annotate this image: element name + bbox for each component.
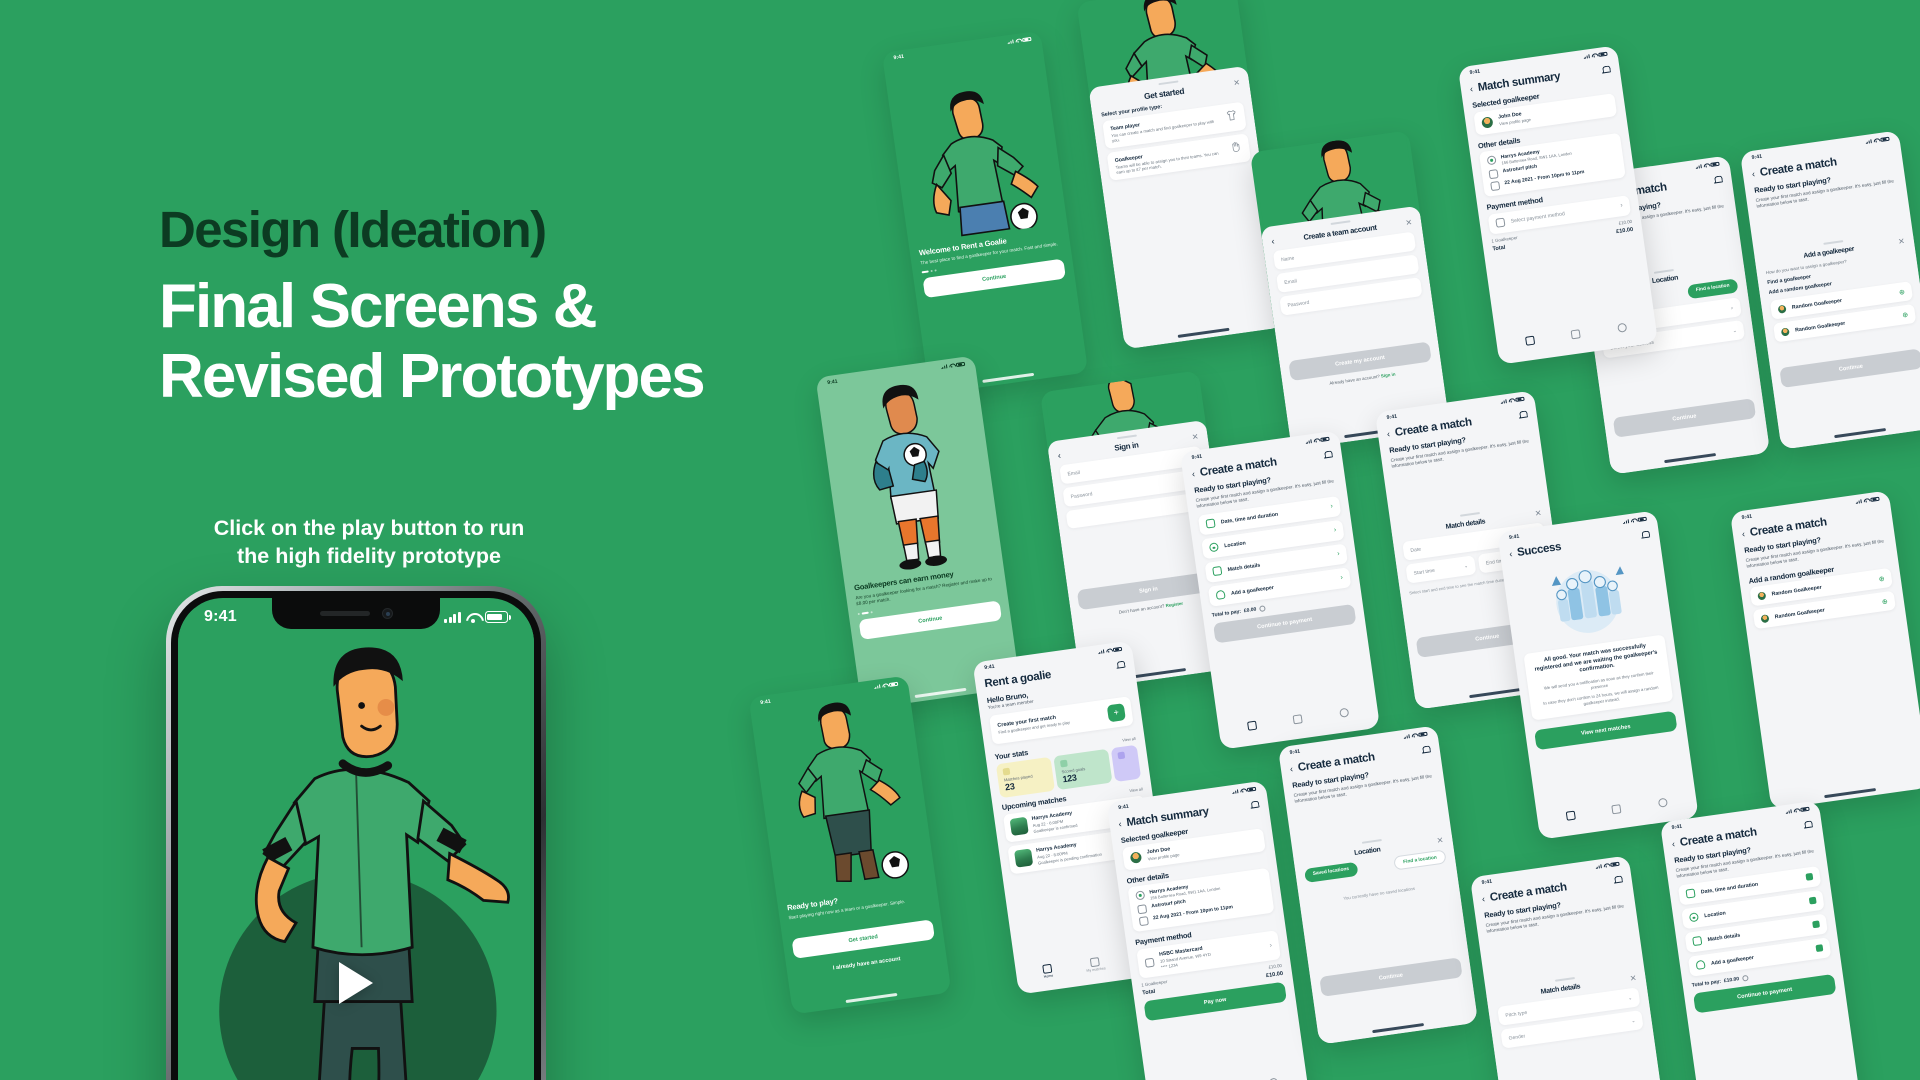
signal-icon [1785, 809, 1792, 814]
avatar [1130, 851, 1142, 863]
step-label: Add a goalkeeper [1711, 947, 1811, 967]
wifi-icon [1591, 53, 1597, 58]
tab-home[interactable] [1525, 335, 1535, 347]
close-icon[interactable]: ✕ [1405, 218, 1413, 227]
signal-icon [1305, 439, 1312, 444]
battery-icon [1418, 731, 1428, 737]
sheet-grabber[interactable] [1460, 512, 1480, 517]
screen-welcome[interactable]: 9:41 Welcome to Rent a Goalie The best p… [882, 31, 1088, 395]
phone-screen[interactable]: 9:41 [178, 598, 534, 1080]
tab-label: My matches [1086, 967, 1106, 974]
stat-card[interactable]: Saves [1111, 744, 1141, 781]
avatar [1781, 327, 1790, 336]
wifi-icon [466, 612, 480, 623]
chevron-right-icon: › [1269, 942, 1272, 949]
status-clock: 9:41 [827, 379, 838, 386]
status-icons [1695, 161, 1720, 169]
upcoming-view-all[interactable]: View all [1129, 786, 1143, 793]
signal-icon [1695, 164, 1702, 169]
status-icons [1007, 37, 1032, 45]
match-details-sheet: Match details ✕ Pitch type ⌄ Gender ⌄ Co… [1485, 962, 1670, 1080]
status-icons [1500, 396, 1525, 404]
status-icons [874, 681, 899, 689]
calendar-icon [1490, 181, 1500, 191]
bottom-tab-bar [1147, 1067, 1309, 1080]
pitch-icon [1137, 904, 1147, 914]
battery-icon [1610, 861, 1620, 867]
prompt-text: Don't have an account? [1118, 603, 1164, 614]
battery-icon [1113, 647, 1123, 653]
tab-home[interactable]: Home [1042, 963, 1054, 979]
signal-icon [1595, 864, 1602, 869]
folder-icon [1692, 936, 1702, 946]
tab-find-location[interactable]: Find a location [1687, 278, 1738, 299]
sheet-grabber[interactable] [1330, 220, 1350, 225]
field-label: Email [1284, 278, 1297, 286]
matches-icon [1571, 329, 1581, 339]
status-clock: 9:41 [893, 54, 904, 61]
bell-icon[interactable] [1803, 820, 1813, 830]
status-icons [1403, 731, 1428, 739]
info-icon[interactable] [1742, 975, 1749, 982]
back-icon[interactable]: ‹ [1191, 469, 1195, 478]
continue-button[interactable]: Continue [1319, 957, 1462, 997]
goalkeeper-name: Random Goalkeeper [1771, 577, 1873, 597]
field-label: Name [1281, 255, 1295, 263]
avatar [1760, 614, 1769, 623]
screen-match-summary[interactable]: 9:41 ‹ Match summary Selected goalkeeper… [1107, 780, 1310, 1080]
status-icons [1622, 516, 1647, 524]
screen-add-goalkeeper-list[interactable]: 9:41 ‹ Create a match Ready to start pla… [1730, 490, 1920, 809]
step-label: Date, time and duration [1701, 875, 1801, 895]
back-icon[interactable]: ‹ [1671, 839, 1675, 848]
ball-icon [1060, 759, 1068, 767]
screen-create-match[interactable]: 9:41 ‹ Create a match Ready to start pla… [1180, 430, 1380, 749]
tab-my-matches[interactable]: My matches [1085, 956, 1106, 973]
calendar-icon [1139, 916, 1149, 926]
back-icon[interactable]: ‹ [1751, 169, 1755, 178]
add-icon[interactable]: ⊕ [1881, 597, 1888, 606]
wifi-icon [1631, 518, 1637, 523]
back-icon[interactable]: ‹ [1509, 549, 1513, 558]
earn-continue-button[interactable]: Continue [859, 600, 1002, 640]
signal-icon [1500, 399, 1507, 404]
create-match-content: ‹ Create a match Ready to start playing?… [1732, 504, 1905, 631]
page-subtitle: Final Screens & Revised Prototypes [159, 272, 704, 412]
avatar [1757, 591, 1766, 600]
battery-icon [1800, 806, 1810, 812]
total-value: £10.00 [1724, 976, 1740, 984]
bell-icon[interactable] [1323, 450, 1333, 460]
profile-icon [1617, 322, 1627, 332]
folder-icon [1212, 566, 1222, 576]
chevron-down-icon: ⌄ [1464, 563, 1469, 570]
status-icons [1097, 647, 1122, 655]
step-label: Date, time and duration [1221, 505, 1325, 526]
battery-icon [1637, 516, 1647, 522]
wifi-icon [1508, 398, 1514, 403]
bell-icon[interactable] [1250, 800, 1260, 810]
field-label: Start time [1413, 567, 1435, 576]
goalkeeper-name: Random Goalkeeper [1792, 290, 1894, 310]
option-desc: Teams will be able to assign you to thei… [1115, 149, 1225, 174]
field-label: Date [1410, 546, 1421, 553]
wifi-icon [1703, 163, 1709, 168]
sheet-grabber[interactable] [1555, 977, 1575, 982]
chevron-down-icon: ⌄ [1631, 1017, 1636, 1024]
close-icon[interactable]: ✕ [1436, 836, 1444, 845]
screen-create-team-account[interactable]: ‹ Create a team account ✕ Name Email Pas… [1250, 130, 1450, 449]
summary-content: ‹ Match summary Selected goalkeeper John… [1460, 59, 1643, 253]
pitch-icon [1488, 169, 1498, 179]
status-clock: 9:41 [1741, 514, 1752, 521]
close-icon[interactable]: ✕ [1233, 79, 1241, 88]
status-icons [1232, 786, 1257, 794]
register-link[interactable]: Register [1165, 601, 1183, 608]
gloves-icon [1117, 751, 1125, 759]
success-message-card: All good. Your match was successfully re… [1523, 634, 1673, 720]
add-icon[interactable]: ⊕ [1902, 310, 1909, 319]
wifi-icon [1411, 733, 1417, 738]
crowd-illustration [1512, 553, 1663, 644]
home-indicator [982, 373, 1034, 383]
wifi-icon [1863, 498, 1869, 503]
info-icon[interactable] [1259, 605, 1266, 612]
tab-my-matches[interactable] [1571, 329, 1581, 341]
battery-icon [956, 362, 966, 368]
bell-icon[interactable] [1518, 410, 1528, 420]
wifi-icon [1603, 863, 1609, 868]
player-illustration [178, 598, 534, 1080]
step-label: Match details [1227, 552, 1331, 573]
battery-icon [1320, 436, 1330, 442]
status-clock: 9:41 [1289, 749, 1300, 756]
goalkeeper-name: Random Goalkeeper [1795, 313, 1897, 333]
matches-icon [1090, 957, 1100, 967]
battery-icon [1247, 786, 1257, 792]
wifi-icon [1015, 38, 1021, 43]
slide-left-panel: Design (Ideation) Final Screens & Revise… [0, 0, 820, 1080]
home-indicator [915, 688, 967, 698]
total-label: Total to pay: [1691, 978, 1721, 988]
bell-icon[interactable] [1640, 530, 1650, 540]
add-icon[interactable]: ⊕ [1898, 288, 1905, 297]
signal-icon [1622, 519, 1629, 524]
home-indicator [1824, 788, 1876, 798]
total-label: Total [1492, 244, 1506, 252]
welcome-illustration [884, 44, 1067, 245]
battery-icon [1515, 396, 1525, 402]
signal-icon [1855, 499, 1862, 504]
check-icon [1805, 873, 1813, 881]
goalkeeper-name: Random Goalkeeper [1774, 600, 1876, 620]
line-item-label: 1 Goalkeeper [1141, 978, 1168, 987]
status-clock: 9:41 [1118, 804, 1129, 811]
check-icon [1812, 921, 1820, 929]
signal-icon [940, 364, 947, 369]
home-icon [1042, 963, 1052, 973]
close-icon[interactable]: ✕ [1629, 974, 1637, 983]
chevron-right-icon: › [1620, 202, 1623, 209]
line-item-value: £10.00 [1268, 962, 1282, 969]
status-clock: 9:41 [1191, 454, 1202, 461]
battery-icon [1880, 136, 1890, 142]
matches-icon [1293, 714, 1303, 724]
tab-my-matches[interactable] [1293, 714, 1303, 726]
signal-icon [1007, 39, 1014, 44]
profile-icon [1658, 797, 1668, 807]
start-time-field[interactable]: Start time ⌄ [1405, 555, 1476, 583]
tab-home[interactable] [1566, 810, 1576, 822]
status-clock: 9:41 [1386, 414, 1397, 421]
step-label: Add a goalkeeper [1231, 576, 1335, 597]
screen-success[interactable]: 9:41 ‹ Success [1497, 510, 1699, 839]
screen-location-empty[interactable]: 9:41 ‹ Create a match Ready to start pla… [1278, 725, 1478, 1044]
avatar [1778, 304, 1787, 313]
continue-button[interactable]: Continue [1779, 348, 1920, 388]
home-indicator [846, 993, 898, 1003]
create-account-button[interactable]: Create my account [1288, 342, 1431, 382]
bell-icon[interactable] [1613, 875, 1623, 885]
screen-add-random-goalkeeper[interactable]: 9:41 ‹ Create a match Ready to start pla… [1740, 130, 1920, 449]
tab-my-matches[interactable] [1612, 804, 1622, 816]
status-icons [940, 362, 965, 370]
earpiece-speaker [320, 611, 370, 616]
location-sheet: Location ✕ Saved locations Find a locati… [1292, 824, 1478, 1044]
profile-icon [1339, 707, 1349, 717]
signal-icon [1232, 789, 1239, 794]
wifi-icon [949, 363, 955, 368]
matches-icon [1612, 804, 1622, 814]
battery-icon [1710, 161, 1720, 167]
play-button[interactable] [339, 962, 373, 1004]
calendar-icon [1686, 889, 1696, 899]
battery-icon [485, 611, 508, 623]
bell-icon[interactable] [1601, 65, 1611, 75]
front-camera-icon [382, 608, 393, 619]
field-label: Gender [1508, 1033, 1525, 1041]
back-icon[interactable]: ‹ [1057, 451, 1061, 460]
tab-saved-locations[interactable]: Saved locations [1304, 862, 1358, 883]
back-icon[interactable]: ‹ [1271, 237, 1275, 246]
signal-icon [1865, 139, 1872, 144]
back-icon[interactable]: ‹ [1741, 529, 1745, 538]
signal-icon [1097, 649, 1104, 654]
pin-icon [1209, 543, 1219, 553]
empty-state-message: You currently have no saved locations [1309, 881, 1450, 906]
sheet-grabber[interactable] [1117, 435, 1137, 440]
status-icons [1305, 436, 1330, 444]
avatar [1481, 116, 1493, 128]
status-icons [1785, 806, 1810, 814]
back-icon[interactable]: ‹ [1289, 764, 1293, 773]
wifi-icon [1793, 808, 1799, 813]
battery-icon [1022, 37, 1032, 43]
home-icon [1525, 335, 1535, 345]
sheet-grabber[interactable] [1654, 269, 1674, 274]
tab-label: Home [1043, 974, 1053, 979]
pin-icon [1689, 913, 1699, 923]
add-match-button[interactable]: + [1107, 703, 1126, 722]
bell-icon[interactable] [1713, 175, 1723, 185]
status-clock: 9:41 [1671, 824, 1682, 831]
battery-icon [889, 681, 899, 687]
signal-icon [444, 612, 461, 623]
chevron-down-icon: ⌄ [1732, 327, 1737, 334]
check-icon [1816, 944, 1824, 952]
status-clock: 9:41 [204, 608, 237, 626]
close-icon[interactable]: ✕ [1534, 509, 1542, 518]
back-icon[interactable]: ‹ [1118, 819, 1122, 828]
phone-notch [272, 598, 440, 629]
field-label: Pitch type [1505, 1009, 1528, 1018]
select-payment-label: Select payment method [1510, 204, 1614, 225]
sign-in-link[interactable]: Sign in [1381, 372, 1396, 379]
screen-match-summary-top[interactable]: 9:41 ‹ Match summary Selected goalkeeper… [1458, 45, 1658, 364]
gloves-icon [1696, 960, 1706, 970]
close-icon[interactable]: ✕ [1898, 238, 1906, 247]
battery-icon [1598, 51, 1608, 57]
field-label: Password [1287, 299, 1310, 308]
wifi-icon [882, 683, 888, 688]
get-started-sheet: Get started ✕ Select your profile type: … [1088, 66, 1283, 350]
total-value: £10.00 [1266, 970, 1284, 978]
status-icons [1865, 136, 1890, 144]
success-content: ‹ Success All good. Your match [1499, 524, 1686, 751]
close-icon[interactable]: ✕ [1191, 432, 1199, 441]
add-goalkeeper-sheet: Add a goalkeeper ✕ How do you want to as… [1753, 225, 1920, 449]
goalkeeper-illustration [817, 369, 1002, 579]
pin-icon [1487, 155, 1497, 165]
match-thumbnail [1014, 849, 1033, 868]
step-label: Location [1704, 899, 1804, 919]
search-icon[interactable]: ⌕ [1730, 305, 1734, 311]
bell-icon[interactable] [1116, 660, 1126, 670]
stats-view-all[interactable]: View all [1122, 735, 1136, 742]
wifi-icon [1313, 438, 1319, 443]
phone-bezel: 9:41 [171, 591, 541, 1080]
total-label: Total to pay: [1211, 608, 1241, 618]
sheet-grabber[interactable] [1158, 80, 1178, 85]
match-thumbnail [1010, 817, 1029, 836]
status-clock: 9:41 [1469, 69, 1480, 76]
screen-match-details-sheet[interactable]: 9:41 ‹ Create a match Ready to start pla… [1470, 855, 1670, 1080]
field-icon [1002, 767, 1010, 775]
tab-profile[interactable] [1617, 322, 1627, 334]
field-label: Password [1070, 491, 1093, 500]
signal-icon [1583, 54, 1590, 59]
wifi-icon [1106, 648, 1112, 653]
status-clock: 9:41 [1751, 154, 1762, 161]
welcome-continue-button[interactable]: Continue [923, 259, 1066, 299]
prompt-text: Already have an account? [1329, 374, 1380, 386]
status-icons [1583, 51, 1608, 59]
line-item-value: £10.00 [1618, 218, 1632, 225]
chevron-right-icon: › [1330, 503, 1333, 510]
add-icon[interactable]: ⊕ [1878, 575, 1885, 584]
back-icon[interactable]: ‹ [1481, 894, 1485, 903]
tab-home[interactable] [1247, 720, 1257, 732]
create-match-content: ‹ Create a match Ready to start playing?… [1182, 444, 1365, 644]
chevron-down-icon: ⌄ [1628, 995, 1633, 1002]
signal-icon [1403, 734, 1410, 739]
status-icons [444, 611, 508, 623]
status-icons [1595, 861, 1620, 869]
screen-create-match-filled[interactable]: 9:41 ‹ Create a match Ready to start pla… [1660, 800, 1860, 1080]
create-match-content: ‹ Create a match Ready to start playing?… [1662, 814, 1845, 1014]
check-icon [1809, 897, 1817, 905]
chevron-right-icon: › [1340, 574, 1343, 581]
step-label: Match details [1707, 923, 1807, 943]
battery-icon [1870, 496, 1880, 502]
shirt-icon [1225, 108, 1239, 122]
field-label: Email [1067, 469, 1080, 477]
sheet-grabber[interactable] [1362, 839, 1382, 844]
total-value: £10.00 [1616, 226, 1634, 234]
chevron-right-icon: › [1333, 527, 1336, 534]
screen-goalkeepers-earn[interactable]: 9:41 Goalkeepers can earn money [815, 355, 1020, 709]
status-icons [1855, 496, 1880, 504]
total-value: £0.00 [1244, 606, 1257, 614]
pin-icon [1135, 890, 1145, 900]
wifi-icon [1873, 138, 1879, 143]
gloves-icon [1216, 590, 1226, 600]
card-icon [1145, 957, 1155, 967]
back-icon[interactable]: ‹ [1386, 429, 1390, 438]
line-item-label: 1 Goalkeeper [1491, 234, 1518, 243]
bell-icon[interactable] [1421, 745, 1431, 755]
gloves-icon [1229, 140, 1243, 154]
tab-profile[interactable] [1658, 797, 1668, 809]
prototype-hint-text: Click on the play button to run the high… [179, 514, 559, 571]
home-icon [1247, 720, 1257, 730]
continue-button[interactable]: Continue [1613, 398, 1756, 438]
status-clock: 9:41 [1509, 534, 1520, 541]
phone-mockup[interactable]: 9:41 [166, 586, 546, 1080]
page-title: Design (Ideation) [159, 200, 545, 259]
home-icon [1566, 810, 1576, 820]
chevron-right-icon: › [1337, 551, 1340, 558]
card-icon [1495, 218, 1505, 228]
summary-content: ‹ Match summary Selected goalkeeper John… [1108, 794, 1295, 1022]
status-clock: 9:41 [1481, 879, 1492, 886]
sheet-grabber[interactable] [1823, 240, 1843, 245]
back-icon[interactable]: ‹ [1469, 84, 1473, 93]
tab-profile[interactable] [1339, 707, 1349, 719]
total-label: Total [1142, 988, 1156, 996]
wifi-icon [1240, 788, 1246, 793]
step-label: Location [1224, 529, 1328, 550]
tab-find-location[interactable]: Find a location [1393, 849, 1446, 870]
status-clock: 9:41 [984, 664, 995, 671]
calendar-icon [1206, 519, 1216, 529]
signal-icon [874, 684, 881, 689]
